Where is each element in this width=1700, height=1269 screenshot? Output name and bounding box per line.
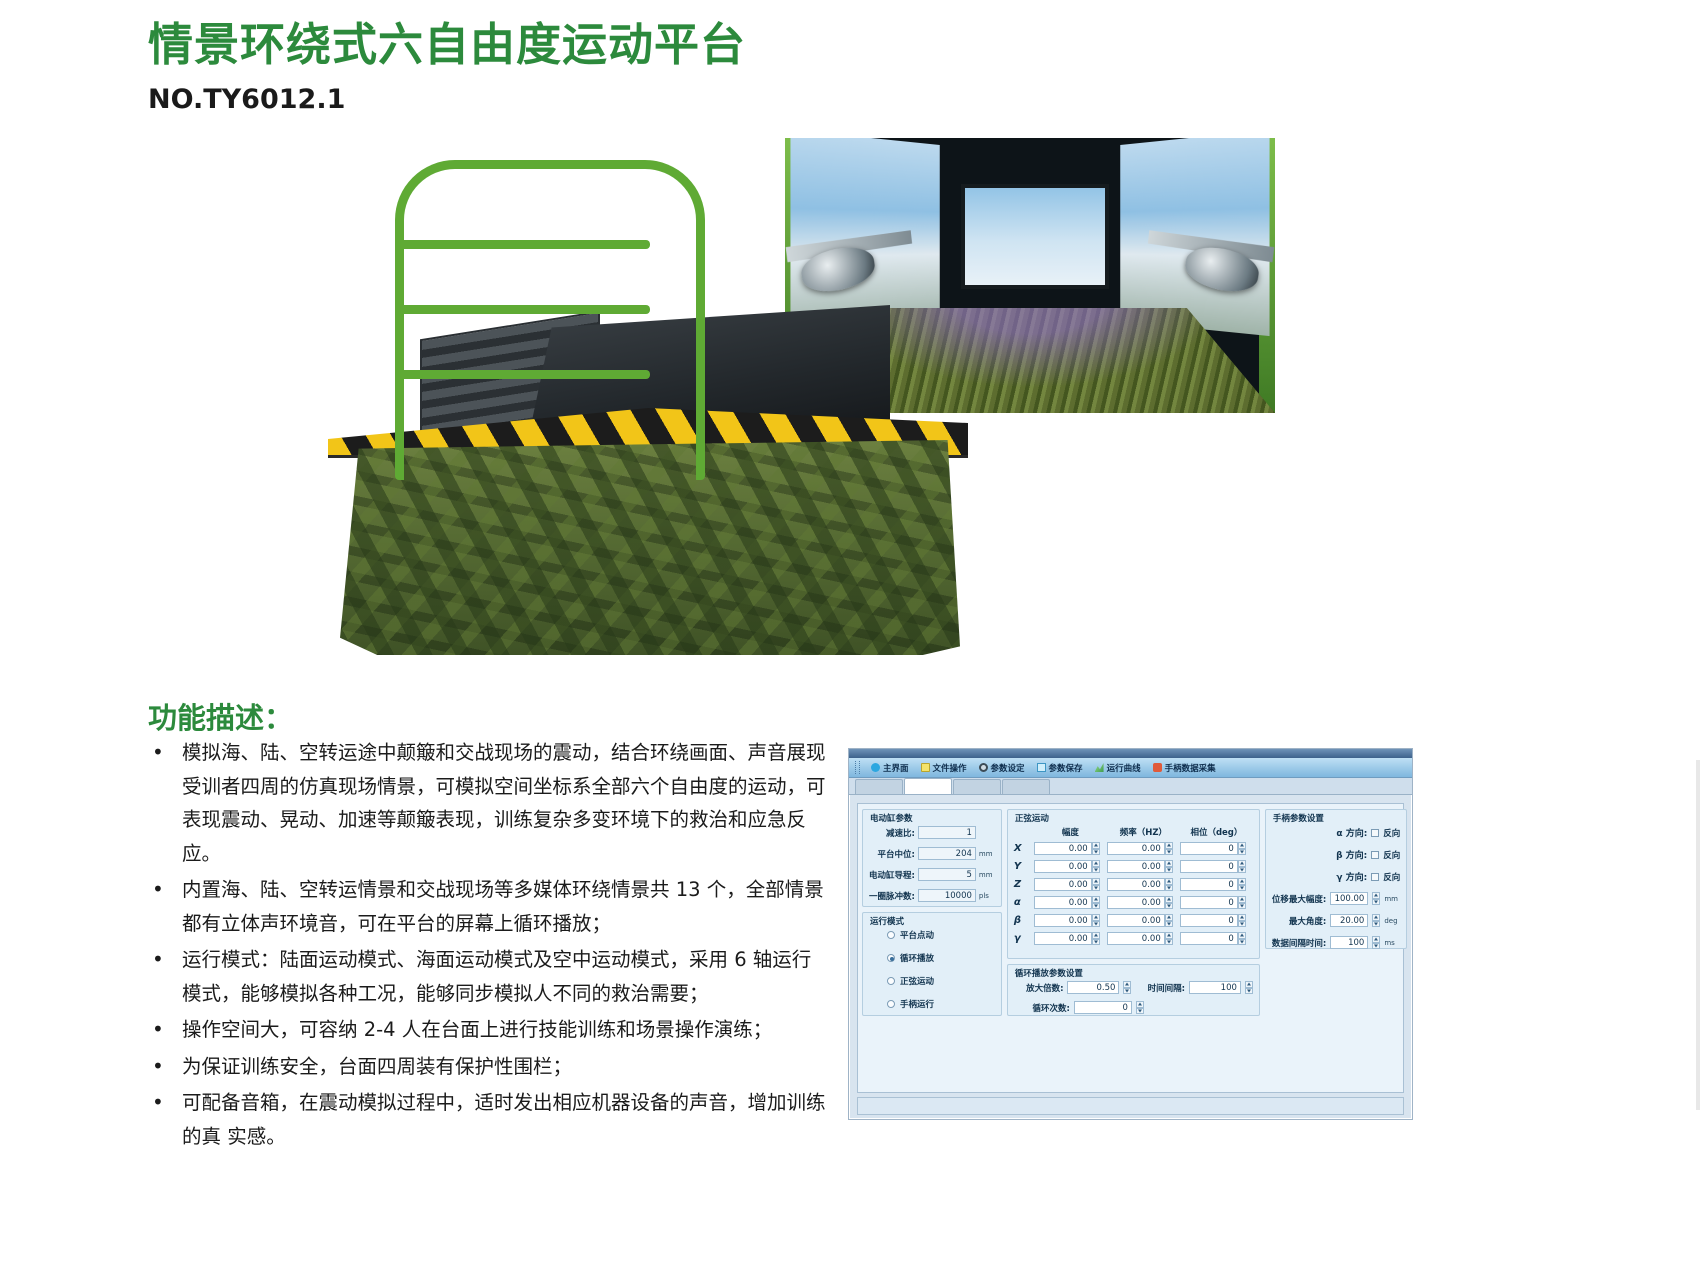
amplitude-input-beta[interactable]: 0.00 bbox=[1034, 914, 1092, 927]
toolbar-item-file[interactable]: 文件操作 bbox=[916, 761, 972, 775]
field-pulses-per-rev: 一圈脉冲数: 10000 pls bbox=[869, 889, 995, 902]
field-label: 一圈脉冲数: bbox=[869, 890, 915, 902]
function-description-heading: 功能描述： bbox=[148, 695, 293, 737]
toolbar-label: 手柄数据采集 bbox=[1165, 762, 1216, 774]
group-title: 正弦运动 bbox=[1015, 812, 1049, 824]
page-model-number: NO.TY6012.1 bbox=[148, 84, 345, 115]
phase-input-beta[interactable]: 0 bbox=[1180, 914, 1238, 927]
amplitude-input-x[interactable]: 0.00 bbox=[1034, 842, 1092, 855]
spinner-icon[interactable] bbox=[1092, 932, 1100, 945]
frequency-input-beta[interactable]: 0.00 bbox=[1107, 914, 1165, 927]
field-reduction-ratio: 减速比: 1 bbox=[869, 826, 995, 839]
curve-icon bbox=[1095, 763, 1104, 772]
reverse-checkbox-beta[interactable] bbox=[1371, 851, 1379, 859]
spinner-icon[interactable] bbox=[1165, 896, 1173, 909]
group-cylinder-params: 电动缸参数 减速比: 1 平台中位: 204 mm 电动缸导程: 5 mm bbox=[862, 809, 1002, 907]
spinner-icon[interactable] bbox=[1092, 896, 1100, 909]
amplitude-input-y[interactable]: 0.00 bbox=[1034, 860, 1092, 873]
screen-center bbox=[961, 184, 1109, 289]
field-max-displacement: 位移最大幅度: 100.00 mm bbox=[1272, 892, 1400, 905]
screen-right bbox=[1120, 138, 1269, 336]
group-title: 循环播放参数设置 bbox=[1015, 967, 1083, 979]
spinner-icon[interactable] bbox=[1372, 892, 1380, 905]
spinner-icon[interactable] bbox=[1238, 878, 1246, 891]
amplitude-input-gamma[interactable]: 0.00 bbox=[1034, 932, 1092, 945]
toolbar-item-param-save[interactable]: 参数保存 bbox=[1032, 761, 1088, 775]
handle-dir-beta: β 方向: 反向 bbox=[1272, 848, 1400, 861]
group-title: 电动缸参数 bbox=[870, 812, 913, 824]
axis-label: β bbox=[1014, 915, 1034, 926]
group-title: 运行模式 bbox=[870, 915, 904, 927]
spinner-icon[interactable] bbox=[1165, 842, 1173, 855]
radio-icon[interactable] bbox=[887, 1000, 895, 1008]
hand-icon bbox=[1153, 763, 1162, 772]
direction-label: α 方向: bbox=[1336, 826, 1367, 839]
spinner-icon[interactable] bbox=[1372, 914, 1380, 927]
tab-2-active[interactable] bbox=[904, 778, 952, 794]
field-label: 数据间隔时间: bbox=[1272, 937, 1326, 949]
spinner-icon[interactable] bbox=[1165, 932, 1173, 945]
list-item: 内置海、陆、空转运情景和交战现场等多媒体环绕情景共 13 个，全部情景都有立体声… bbox=[178, 872, 828, 940]
tab-4[interactable] bbox=[1002, 779, 1050, 794]
field-label: 减速比: bbox=[886, 827, 915, 839]
field-label: 电动缸导程: bbox=[869, 869, 915, 881]
field-unit: mm bbox=[1384, 895, 1400, 903]
home-icon bbox=[871, 763, 880, 772]
control-software-window: 主界面 文件操作 参数设定 参数保存 运行曲线 手柄数据采集 bbox=[848, 748, 1413, 1120]
radio-row-jog[interactable]: 平台点动 bbox=[887, 929, 995, 941]
checkbox-label: 反向 bbox=[1383, 871, 1400, 883]
handle-dir-alpha: α 方向: 反向 bbox=[1272, 826, 1400, 839]
reduction-ratio-input[interactable]: 1 bbox=[918, 826, 976, 839]
radio-row-loop-play[interactable]: 循环播放 bbox=[887, 952, 995, 964]
toolbar-label: 文件操作 bbox=[933, 762, 967, 774]
toolbar-item-main[interactable]: 主界面 bbox=[866, 761, 914, 775]
tab-3[interactable] bbox=[953, 779, 1001, 794]
spinner-icon[interactable] bbox=[1372, 936, 1380, 949]
max-displacement-input[interactable]: 100.00 bbox=[1330, 892, 1368, 905]
safety-railing bbox=[395, 160, 705, 480]
list-item: 运行模式：陆面运动模式、海面运动模式及空中运动模式，采用 6 轴运行模式，能够模… bbox=[178, 942, 828, 1010]
phase-input-z[interactable]: 0 bbox=[1180, 878, 1238, 891]
direction-label: β 方向: bbox=[1336, 848, 1367, 861]
table-row: X 0.00 0.00 0 bbox=[1014, 842, 1253, 855]
field-unit: ms bbox=[1384, 939, 1400, 947]
table-row: Z 0.00 0.00 0 bbox=[1014, 878, 1253, 891]
frequency-input-x[interactable]: 0.00 bbox=[1107, 842, 1165, 855]
window-titlebar bbox=[849, 749, 1412, 758]
railing-bar-3 bbox=[400, 370, 650, 379]
field-unit: mm bbox=[979, 850, 995, 858]
field-unit: deg bbox=[1384, 917, 1400, 925]
field-label: 位移最大幅度: bbox=[1272, 893, 1326, 905]
loop-row-2: 循环次数: 0 bbox=[1014, 1001, 1253, 1014]
axis-label: α bbox=[1014, 897, 1034, 908]
toolbar-label: 主界面 bbox=[883, 762, 909, 774]
frequency-input-y[interactable]: 0.00 bbox=[1107, 860, 1165, 873]
field-label: 平台中位: bbox=[878, 848, 915, 860]
spinner-icon[interactable] bbox=[1092, 878, 1100, 891]
toolbar-item-handle-capture[interactable]: 手柄数据采集 bbox=[1148, 761, 1221, 775]
railing-bar-1 bbox=[400, 240, 650, 249]
list-item: 可配备音箱，在震动模拟过程中，适时发出相应机器设备的声音，增加训练的真 实感。 bbox=[178, 1085, 828, 1153]
data-interval-input[interactable]: 100 bbox=[1330, 936, 1368, 949]
spinner-icon[interactable] bbox=[1238, 932, 1246, 945]
radio-label: 循环播放 bbox=[900, 952, 934, 964]
middle-column: 正弦运动 幅度 频率（HZ） 相位（deg） X 0.00 0.00 0 Y 0… bbox=[1007, 809, 1260, 1087]
pulses-per-rev-input[interactable]: 10000 bbox=[918, 889, 976, 902]
max-angle-input[interactable]: 20.00 bbox=[1330, 914, 1368, 927]
group-run-mode: 运行模式 平台点动 循环播放 正弦运动 手柄运行 bbox=[862, 912, 1002, 1016]
radio-row-handle[interactable]: 手柄运行 bbox=[887, 998, 995, 1010]
field-data-interval: 数据间隔时间: 100 ms bbox=[1272, 936, 1400, 949]
toolbar-label: 运行曲线 bbox=[1107, 762, 1141, 774]
checkbox-label: 反向 bbox=[1383, 849, 1400, 861]
field-label: 最大角度: bbox=[1289, 915, 1326, 927]
field-label: 时间间隔: bbox=[1135, 982, 1185, 994]
loop-row-1: 放大倍数: 0.50 时间间隔: 100 bbox=[1014, 981, 1253, 994]
radio-label: 正弦运动 bbox=[900, 975, 934, 987]
direction-label: γ 方向: bbox=[1336, 870, 1367, 883]
software-toolbar: 主界面 文件操作 参数设定 参数保存 运行曲线 手柄数据采集 bbox=[849, 758, 1412, 778]
software-content-area: 电动缸参数 减速比: 1 平台中位: 204 mm 电动缸导程: 5 mm bbox=[857, 803, 1404, 1093]
magnification-input[interactable]: 0.50 bbox=[1067, 981, 1119, 994]
group-sine-motion: 正弦运动 幅度 频率（HZ） 相位（deg） X 0.00 0.00 0 Y 0… bbox=[1007, 809, 1260, 959]
spinner-icon[interactable] bbox=[1238, 914, 1246, 927]
phase-input-x[interactable]: 0 bbox=[1180, 842, 1238, 855]
toolbar-label: 参数保存 bbox=[1049, 762, 1083, 774]
frequency-input-z[interactable]: 0.00 bbox=[1107, 878, 1165, 891]
group-handle-params: 手柄参数设置 α 方向: 反向 β 方向: 反向 γ 方向: 反向 bbox=[1265, 809, 1407, 949]
table-row: γ 0.00 0.00 0 bbox=[1014, 932, 1253, 945]
software-status-bar bbox=[857, 1097, 1404, 1115]
axis-label: X bbox=[1014, 843, 1034, 854]
radio-icon-selected[interactable] bbox=[887, 954, 895, 962]
frequency-input-gamma[interactable]: 0.00 bbox=[1107, 932, 1165, 945]
column-header-frequency: 频率（HZ） bbox=[1107, 826, 1180, 838]
radio-icon[interactable] bbox=[887, 931, 895, 939]
spinner-icon[interactable] bbox=[1136, 1001, 1144, 1014]
field-unit: mm bbox=[979, 871, 995, 879]
phase-input-gamma[interactable]: 0 bbox=[1180, 932, 1238, 945]
list-item: 操作空间大，可容纳 2-4 人在台面上进行技能训练和场景操作演练； bbox=[178, 1012, 828, 1047]
field-unit: pls bbox=[979, 892, 995, 900]
amplitude-input-alpha[interactable]: 0.00 bbox=[1034, 896, 1092, 909]
spinner-icon[interactable] bbox=[1245, 981, 1253, 994]
spinner-icon[interactable] bbox=[1238, 842, 1246, 855]
gear-icon bbox=[979, 763, 988, 772]
product-photo bbox=[300, 130, 1310, 670]
amplitude-input-z[interactable]: 0.00 bbox=[1034, 878, 1092, 891]
radio-row-sine[interactable]: 正弦运动 bbox=[887, 975, 995, 987]
spinner-icon[interactable] bbox=[1165, 860, 1173, 873]
field-platform-center: 平台中位: 204 mm bbox=[869, 847, 995, 860]
page-title: 情景环绕式六自由度运动平台 bbox=[148, 20, 746, 70]
table-row: Y 0.00 0.00 0 bbox=[1014, 860, 1253, 873]
list-item: 模拟海、陆、空转运途中颠簸和交战现场的震动，结合环绕画面、声音展现受训者四周的仿… bbox=[178, 735, 828, 870]
reverse-checkbox-gamma[interactable] bbox=[1371, 873, 1379, 881]
column-header-phase: 相位（deg） bbox=[1180, 826, 1253, 838]
toolbar-label: 参数设定 bbox=[991, 762, 1025, 774]
frequency-input-alpha[interactable]: 0.00 bbox=[1107, 896, 1165, 909]
column-header-amplitude: 幅度 bbox=[1034, 826, 1107, 838]
axis-label: Y bbox=[1014, 861, 1034, 872]
toolbar-item-run-curve[interactable]: 运行曲线 bbox=[1090, 761, 1146, 775]
spinner-icon[interactable] bbox=[1123, 981, 1131, 994]
field-label: 放大倍数: bbox=[1014, 982, 1064, 994]
loop-count-input[interactable]: 0 bbox=[1074, 1001, 1132, 1014]
group-title: 手柄参数设置 bbox=[1273, 812, 1324, 824]
radio-label: 手柄运行 bbox=[900, 998, 934, 1010]
group-loop-params: 循环播放参数设置 放大倍数: 0.50 时间间隔: 100 循环次数: 0 bbox=[1007, 964, 1260, 1016]
right-column: 手柄参数设置 α 方向: 反向 β 方向: 反向 γ 方向: 反向 bbox=[1265, 809, 1407, 1087]
spinner-icon[interactable] bbox=[1092, 914, 1100, 927]
spinner-icon[interactable] bbox=[1165, 914, 1173, 927]
table-row: β 0.00 0.00 0 bbox=[1014, 914, 1253, 927]
axis-label: γ bbox=[1014, 933, 1034, 944]
phase-input-y[interactable]: 0 bbox=[1180, 860, 1238, 873]
field-cylinder-lead: 电动缸导程: 5 mm bbox=[869, 868, 995, 881]
table-row: α 0.00 0.00 0 bbox=[1014, 896, 1253, 909]
platform-center-input[interactable]: 204 bbox=[918, 847, 976, 860]
field-label: 循环次数: bbox=[1014, 1002, 1070, 1014]
spinner-icon[interactable] bbox=[1238, 896, 1246, 909]
tab-1[interactable] bbox=[855, 779, 903, 794]
radio-icon[interactable] bbox=[887, 977, 895, 985]
software-tab-row bbox=[849, 778, 1412, 795]
checkbox-label: 反向 bbox=[1383, 827, 1400, 839]
screen-left bbox=[790, 138, 939, 336]
reverse-checkbox-alpha[interactable] bbox=[1371, 829, 1379, 837]
phase-input-alpha[interactable]: 0 bbox=[1180, 896, 1238, 909]
spinner-icon[interactable] bbox=[1092, 860, 1100, 873]
spinner-icon[interactable] bbox=[1238, 860, 1246, 873]
railing-bar-2 bbox=[400, 305, 650, 314]
radio-label: 平台点动 bbox=[900, 929, 934, 941]
sine-column-headers: 幅度 频率（HZ） 相位（deg） bbox=[1014, 826, 1253, 838]
toolbar-item-param-set[interactable]: 参数设定 bbox=[974, 761, 1030, 775]
time-interval-input[interactable]: 100 bbox=[1189, 981, 1241, 994]
spinner-icon[interactable] bbox=[1092, 842, 1100, 855]
page-edge-marker bbox=[1696, 760, 1700, 1110]
axis-label: Z bbox=[1014, 879, 1034, 890]
field-max-angle: 最大角度: 20.00 deg bbox=[1272, 914, 1400, 927]
cylinder-lead-input[interactable]: 5 bbox=[918, 868, 976, 881]
file-icon bbox=[921, 763, 930, 772]
toolbar-drag-handle[interactable] bbox=[855, 761, 860, 774]
left-column: 电动缸参数 减速比: 1 平台中位: 204 mm 电动缸导程: 5 mm bbox=[862, 809, 1002, 1087]
handle-dir-gamma: γ 方向: 反向 bbox=[1272, 870, 1400, 883]
list-item: 为保证训练安全，台面四周装有保护性围栏； bbox=[178, 1049, 828, 1084]
save-icon bbox=[1037, 763, 1046, 772]
function-description-list: 模拟海、陆、空转运途中颠簸和交战现场的震动，结合环绕画面、声音展现受训者四周的仿… bbox=[148, 735, 828, 1155]
spinner-icon[interactable] bbox=[1165, 878, 1173, 891]
